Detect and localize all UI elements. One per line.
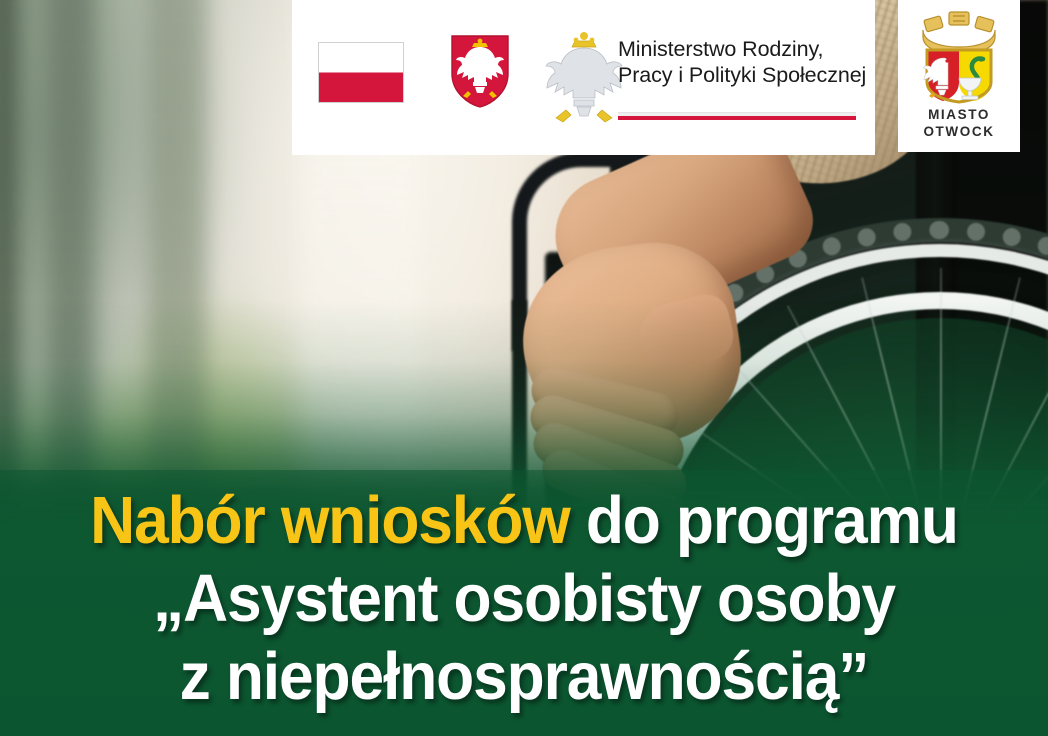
headline-line-3: z niepełnosprawnością” bbox=[37, 638, 1012, 716]
crest-label: MIASTO OTWOCK bbox=[923, 106, 994, 140]
otwock-crest-box: MIASTO OTWOCK bbox=[898, 0, 1020, 152]
ministry-name: Ministerstwo Rodziny, Pracy i Polityki S… bbox=[618, 36, 863, 88]
headline-line-1: Nabór wniosków do programu bbox=[37, 482, 1012, 560]
headline: Nabór wniosków do programu „Asystent oso… bbox=[0, 482, 1048, 716]
ministry-logo-bar: Ministerstwo Rodziny, Pracy i Polityki S… bbox=[292, 0, 875, 155]
headline-line-1-rest: do programu bbox=[570, 483, 958, 558]
poster-banner: Ministerstwo Rodziny, Pracy i Polityki S… bbox=[0, 0, 1048, 736]
headline-line-2: „Asystent osobisty osoby bbox=[37, 560, 1012, 638]
crest-label-line-2: OTWOCK bbox=[923, 123, 994, 140]
polish-flag-icon bbox=[318, 42, 404, 103]
crest-label-line-1: MIASTO bbox=[923, 106, 994, 123]
ministry-name-line-1: Ministerstwo Rodziny, bbox=[618, 36, 863, 62]
headline-highlight: Nabór wniosków bbox=[90, 483, 569, 558]
polish-emblem-icon bbox=[450, 34, 510, 108]
ministry-eagle-icon bbox=[540, 24, 628, 124]
ministry-name-line-2: Pracy i Polityki Społecznej bbox=[618, 62, 863, 88]
ministry-red-rule bbox=[618, 112, 856, 120]
otwock-crest-icon bbox=[911, 6, 1007, 104]
